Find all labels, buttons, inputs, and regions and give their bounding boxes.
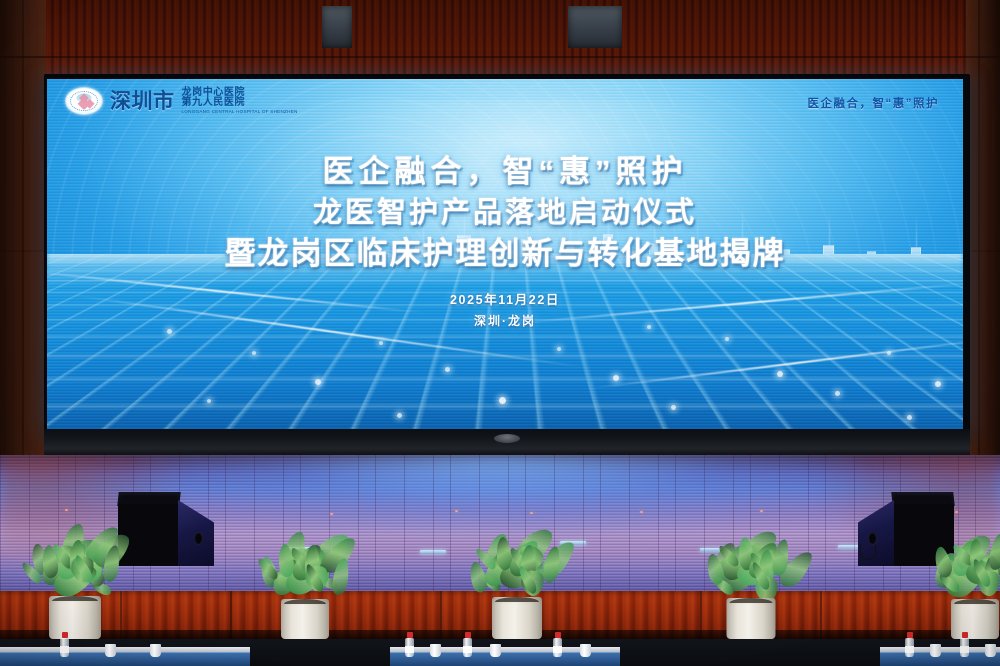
plant-pot — [727, 598, 776, 639]
event-title-line-2: 龙医智护产品落地启动仪式 — [47, 196, 963, 231]
water-bottle — [405, 638, 414, 657]
conference-stage-photo: 深圳市 龙岗中心医院 第九人民医院 LONGGANG CENTRAL HOSPI… — [0, 0, 1000, 666]
paper-cup — [150, 644, 161, 657]
plant-pot — [281, 599, 329, 639]
light-particle — [315, 379, 321, 385]
monitor-cable — [860, 544, 876, 560]
monitor-handle-port — [194, 532, 203, 545]
bottle-label — [960, 646, 969, 653]
light-particle — [207, 399, 211, 403]
event-location: 深圳·龙岗 — [47, 312, 963, 329]
corner-slogan: 医企融合，智“惠”照护 — [808, 95, 940, 111]
paper-cup — [105, 644, 116, 657]
paper-cup — [490, 644, 501, 657]
floor-plank-seam — [0, 455, 1, 591]
tableware-layer — [0, 639, 1000, 666]
potted-plant-2 — [245, 539, 365, 639]
potted-plant-1 — [10, 531, 140, 639]
floor-plank-seam — [675, 455, 676, 591]
light-particle — [887, 351, 891, 355]
floor-light-dot — [65, 509, 68, 511]
bottle-label — [905, 646, 914, 653]
floor-plank-seam — [583, 455, 584, 591]
event-title-line-3: 暨龙岗区临床护理创新与转化基地揭牌 — [47, 235, 963, 273]
water-bottle — [60, 638, 69, 657]
water-bottle — [463, 638, 472, 657]
floor-light-dot — [530, 512, 533, 514]
bottle-label — [405, 646, 414, 653]
light-particle — [725, 337, 729, 341]
water-bottle — [905, 638, 914, 657]
floor-light-dot — [640, 511, 643, 513]
paper-cup — [580, 644, 591, 657]
screen-under-band — [44, 429, 970, 457]
potted-plant-5 — [915, 539, 1000, 639]
floor-plank-seam — [658, 455, 659, 591]
screen-center-knob — [494, 434, 520, 443]
wall-groove — [22, 0, 24, 470]
paper-cup — [930, 644, 941, 657]
floor-plank-seam — [825, 455, 826, 591]
light-particle — [935, 381, 941, 387]
paper-cup — [430, 644, 441, 657]
wall-groove — [978, 0, 980, 470]
water-bottle — [960, 638, 969, 657]
light-particle — [835, 391, 840, 396]
floor-plank-seam — [433, 455, 434, 591]
stage-front-recess — [322, 6, 352, 48]
event-date: 2025年11月22日 — [47, 289, 963, 308]
light-particle — [907, 415, 912, 420]
floor-light-dot — [330, 513, 333, 515]
floor-light-dot — [760, 510, 763, 512]
floor-plank-seam — [854, 455, 855, 591]
wall-seam — [0, 56, 1000, 58]
floor-plank-seam — [629, 455, 630, 591]
light-particle — [671, 405, 676, 410]
led-screen: 深圳市 龙岗中心医院 第九人民医院 LONGGANG CENTRAL HOSPI… — [47, 79, 963, 429]
floor-light-dot — [455, 510, 458, 512]
floor-plank-seam — [404, 455, 405, 591]
light-particle — [252, 351, 256, 355]
floor-plank-seam — [375, 455, 376, 591]
logo-city-text: 深圳市 — [110, 91, 175, 112]
plant-pot — [49, 596, 101, 639]
light-particle — [613, 375, 619, 381]
light-particle — [397, 413, 402, 418]
hospital-emblem-icon — [65, 87, 103, 115]
light-particle — [445, 367, 450, 372]
emblem-core — [77, 93, 92, 102]
water-bottle — [553, 638, 562, 657]
logo-hospital-names: 龙岗中心医院 第九人民医院 LONGGANG CENTRAL HOSPITAL … — [182, 88, 298, 115]
potted-plant-4 — [690, 537, 812, 639]
bottle-label — [60, 646, 69, 653]
wall-right-shadow — [966, 0, 1000, 470]
light-particle — [379, 341, 383, 345]
potted-plant-3 — [455, 535, 579, 639]
floor-plank-seam — [450, 455, 451, 591]
event-title-line-1: 医企融合，智“惠”照护 — [47, 153, 963, 191]
light-particle — [557, 347, 561, 351]
plant-pot — [492, 597, 542, 639]
stage-front-recess — [568, 6, 622, 48]
plant-pot — [951, 599, 999, 639]
bottle-label — [463, 646, 472, 653]
event-meta-block: 2025年11月22日 深圳·龙岗 — [47, 289, 963, 329]
light-particle — [777, 371, 783, 377]
logo-hospital-line-2: 第九人民医院 — [182, 98, 298, 109]
light-particle — [167, 329, 172, 334]
logo-english-text: LONGGANG CENTRAL HOSPITAL OF SHENZHEN — [182, 110, 298, 115]
paper-cup — [985, 644, 996, 657]
hospital-logo: 深圳市 龙岗中心医院 第九人民医院 LONGGANG CENTRAL HOSPI… — [65, 87, 298, 115]
floor-plank-seam — [600, 455, 601, 591]
bottle-label — [553, 646, 562, 653]
event-title-block: 医企融合，智“惠”照护 龙医智护产品落地启动仪式 暨龙岗区临床护理创新与转化基地… — [47, 153, 963, 273]
floor-plank-seam — [225, 455, 226, 591]
front-table-row — [0, 639, 1000, 666]
light-particle — [499, 397, 506, 404]
